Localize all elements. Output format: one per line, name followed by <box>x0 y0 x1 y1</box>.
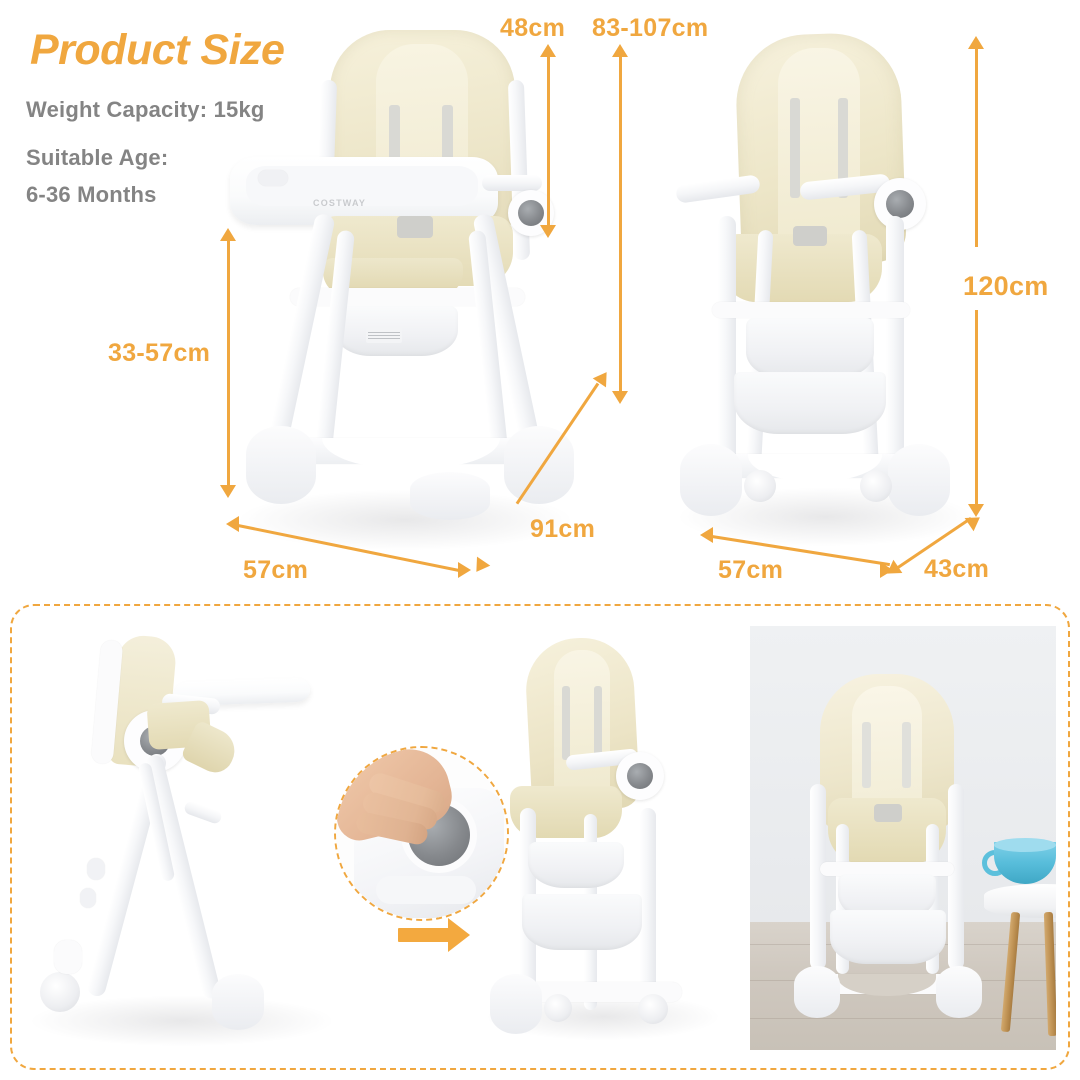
suitable-age-label: Suitable Age: <box>26 145 168 171</box>
fold-flow-arrow <box>398 918 472 952</box>
photo-upright-left <box>810 784 826 970</box>
dim-label-33-57cm: 33-57cm <box>108 339 210 368</box>
tray-cup-holder <box>258 170 288 186</box>
profile-shadow <box>32 996 332 1046</box>
dim-label-91cm: 91cm <box>530 515 595 544</box>
feature-panel <box>10 604 1070 1070</box>
product-size-infographic: Product Size Weight Capacity: 15kg Suita… <box>0 0 1080 1080</box>
weight-capacity-text: Weight Capacity: 15kg <box>26 97 265 123</box>
profile-height-catch-upper <box>87 858 105 880</box>
photo-strap-left <box>862 722 871 788</box>
side-upright-left <box>718 216 736 466</box>
inset-base-detail <box>376 876 476 904</box>
table-leg-left <box>1001 912 1020 1032</box>
side-base-foot-right <box>888 444 950 516</box>
side-seat-crossbar <box>712 302 910 318</box>
photo-foot-left <box>794 966 840 1018</box>
caster-wheel-left <box>744 470 776 502</box>
profile-footrest-bar <box>183 800 223 825</box>
dim-label-83-107cm: 83-107cm <box>592 14 708 43</box>
side-harness-buckle <box>793 226 827 246</box>
suitable-age-value: 6-36 Months <box>26 182 157 208</box>
side-base-foot-left <box>680 444 742 516</box>
folded-strap-left <box>562 686 570 760</box>
side-shoulder-strap-left <box>790 98 800 198</box>
photo-strap-right <box>902 722 911 788</box>
photo-lower-basket <box>830 910 946 964</box>
profile-height-catch-lower <box>80 888 96 908</box>
dim-label-57cm-front: 57cm <box>243 556 308 585</box>
arrow-tip <box>448 918 470 952</box>
folded-upright-right <box>640 808 656 1008</box>
side-lower-basket <box>734 372 886 434</box>
photo-upright-right <box>948 784 964 970</box>
folded-fold-knob <box>627 763 653 789</box>
chair-side-view <box>660 20 980 550</box>
side-table <box>984 862 1056 1038</box>
folded-strap-right <box>594 686 602 760</box>
profile-caster-rear <box>40 972 80 1012</box>
caster-wheel-right <box>860 470 892 502</box>
dim-label-120cm: 120cm <box>963 271 1049 302</box>
folded-foot-left <box>490 974 542 1034</box>
table-leg-middle <box>1044 912 1056 1036</box>
fold-knob-side <box>886 190 914 218</box>
arrow-shaft <box>398 928 452 942</box>
bowl-rim <box>994 838 1056 852</box>
folded-caster-right <box>638 994 668 1024</box>
lifestyle-photo <box>750 626 1056 1050</box>
folded-lower-basket <box>522 894 642 950</box>
profile-foot-front <box>212 974 264 1030</box>
tray-support-arm <box>482 175 542 191</box>
folded-storage-basket <box>528 842 624 888</box>
dim-label-48cm: 48cm <box>500 14 565 43</box>
base-foot-right <box>504 426 574 504</box>
base-foot-left <box>246 426 316 504</box>
side-upright-right <box>886 216 904 466</box>
harness-buckle <box>397 216 433 238</box>
panel-chair-folded <box>488 628 728 1048</box>
dim-label-43cm: 43cm <box>924 555 989 584</box>
brand-logo-text: COSTWAY <box>313 198 366 208</box>
basket-label-tag <box>366 328 402 343</box>
profile-caster-mount <box>54 940 82 974</box>
fold-knob-right <box>518 200 544 226</box>
photo-chair <box>794 674 984 1022</box>
base-foot-front <box>410 472 490 520</box>
folded-caster-left <box>544 994 572 1022</box>
panel-chair-side-profile <box>32 622 362 1052</box>
photo-foot-right <box>936 966 982 1018</box>
photo-buckle <box>874 804 902 822</box>
side-storage-basket <box>746 318 874 378</box>
knob-press-detail-inset <box>334 746 509 921</box>
dim-label-57cm-side: 57cm <box>718 556 783 585</box>
